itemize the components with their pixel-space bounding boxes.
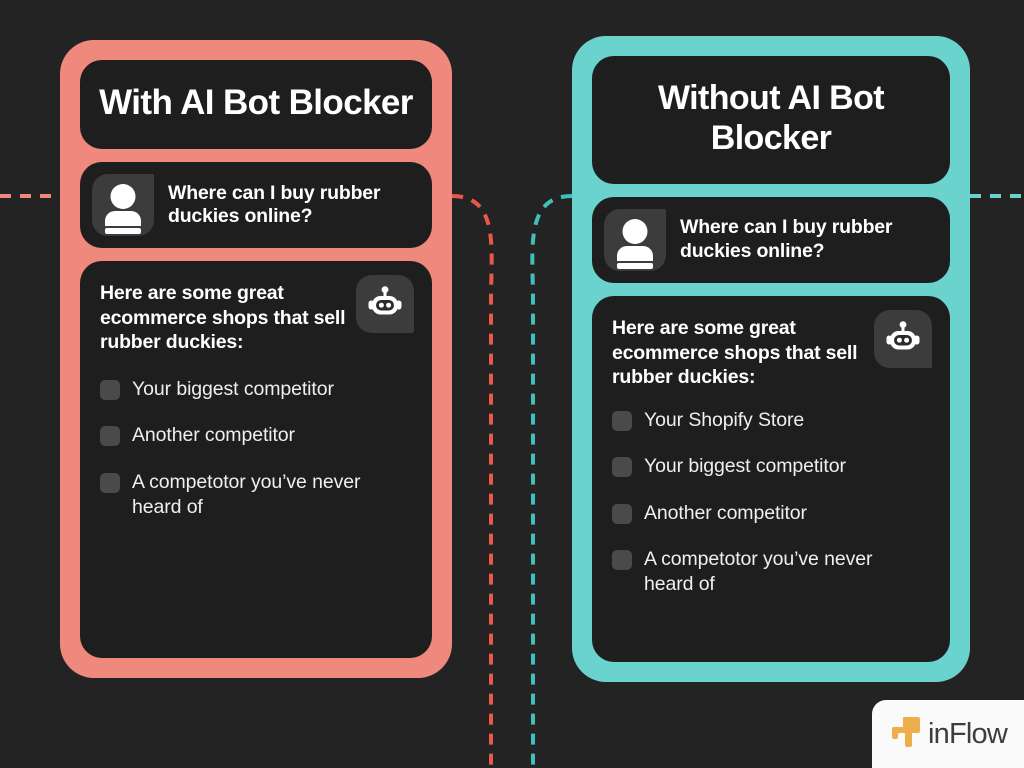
avatar-shoulders-shape [617, 246, 653, 261]
list-item-label: Your Shopify Store [644, 408, 804, 433]
panel-without-ai-bot-blocker: Without AI Bot Blocker Where can I buy r… [572, 36, 970, 682]
list-item-label: Another competitor [132, 423, 295, 448]
robot-icon [874, 310, 932, 368]
inflow-logo[interactable]: inFlow [872, 700, 1024, 768]
panel-title-block: Without AI Bot Blocker [592, 56, 950, 184]
avatar-base-bar-shape [105, 228, 141, 234]
user-question-bubble: Where can I buy rubber duckies online? [80, 162, 432, 248]
checkbox-icon[interactable] [612, 550, 632, 570]
avatar-shoulders-shape [105, 211, 141, 226]
list-item: Another competitor [100, 423, 412, 448]
inflow-wordmark: inFlow [928, 718, 1007, 751]
user-question-text: Where can I buy rubber duckies online? [168, 182, 418, 230]
list-item-label: A competotor you’ve never heard of [644, 547, 894, 598]
avatar-base-bar-shape [617, 263, 653, 269]
bot-answer-heading: Here are some great ecommerce shops that… [612, 316, 862, 390]
list-item-label: Your biggest competitor [132, 377, 334, 402]
bot-answer-list: Your biggest competitor Another competit… [100, 377, 412, 520]
bot-answer-heading: Here are some great ecommerce shops that… [100, 281, 350, 355]
bot-answer-list: Your Shopify Store Your biggest competit… [612, 408, 930, 598]
bot-answer-block: Here are some great ecommerce shops that… [80, 261, 432, 658]
page-title: With AI Bot Blocker [98, 82, 414, 123]
list-item: Your Shopify Store [612, 408, 930, 433]
list-item: Your biggest competitor [612, 454, 930, 479]
user-avatar-icon [604, 209, 666, 271]
list-item: Another competitor [612, 501, 930, 526]
list-item: A competotor you’ve never heard of [100, 470, 412, 521]
checkbox-icon[interactable] [100, 380, 120, 400]
page-title: Without AI Bot Blocker [610, 78, 932, 158]
bot-answer-block: Here are some great ecommerce shops that… [592, 296, 950, 662]
checkbox-icon[interactable] [612, 411, 632, 431]
checkbox-icon[interactable] [612, 504, 632, 524]
list-item-label: Your biggest competitor [644, 454, 846, 479]
avatar-head-shape [111, 184, 136, 209]
center-left-curve-dash [452, 196, 492, 768]
checkbox-icon[interactable] [100, 426, 120, 446]
avatar-head-shape [623, 219, 648, 244]
user-question-text: Where can I buy rubber duckies online? [680, 216, 936, 264]
panel-title-block: With AI Bot Blocker [80, 60, 432, 149]
checkbox-icon[interactable] [612, 457, 632, 477]
user-question-bubble: Where can I buy rubber duckies online? [592, 197, 950, 283]
infographic-canvas: With AI Bot Blocker Where can I buy rubb… [0, 0, 1024, 768]
inflow-mark-icon [890, 715, 924, 754]
panel-with-ai-bot-blocker: With AI Bot Blocker Where can I buy rubb… [60, 40, 452, 678]
user-avatar-icon [92, 174, 154, 236]
list-item: Your biggest competitor [100, 377, 412, 402]
list-item: A competotor you’ve never heard of [612, 547, 930, 598]
list-item-label: A competotor you’ve never heard of [132, 470, 382, 521]
list-item-label: Another competitor [644, 501, 807, 526]
center-right-curve-dash [532, 196, 572, 768]
checkbox-icon[interactable] [100, 473, 120, 493]
robot-icon [356, 275, 414, 333]
